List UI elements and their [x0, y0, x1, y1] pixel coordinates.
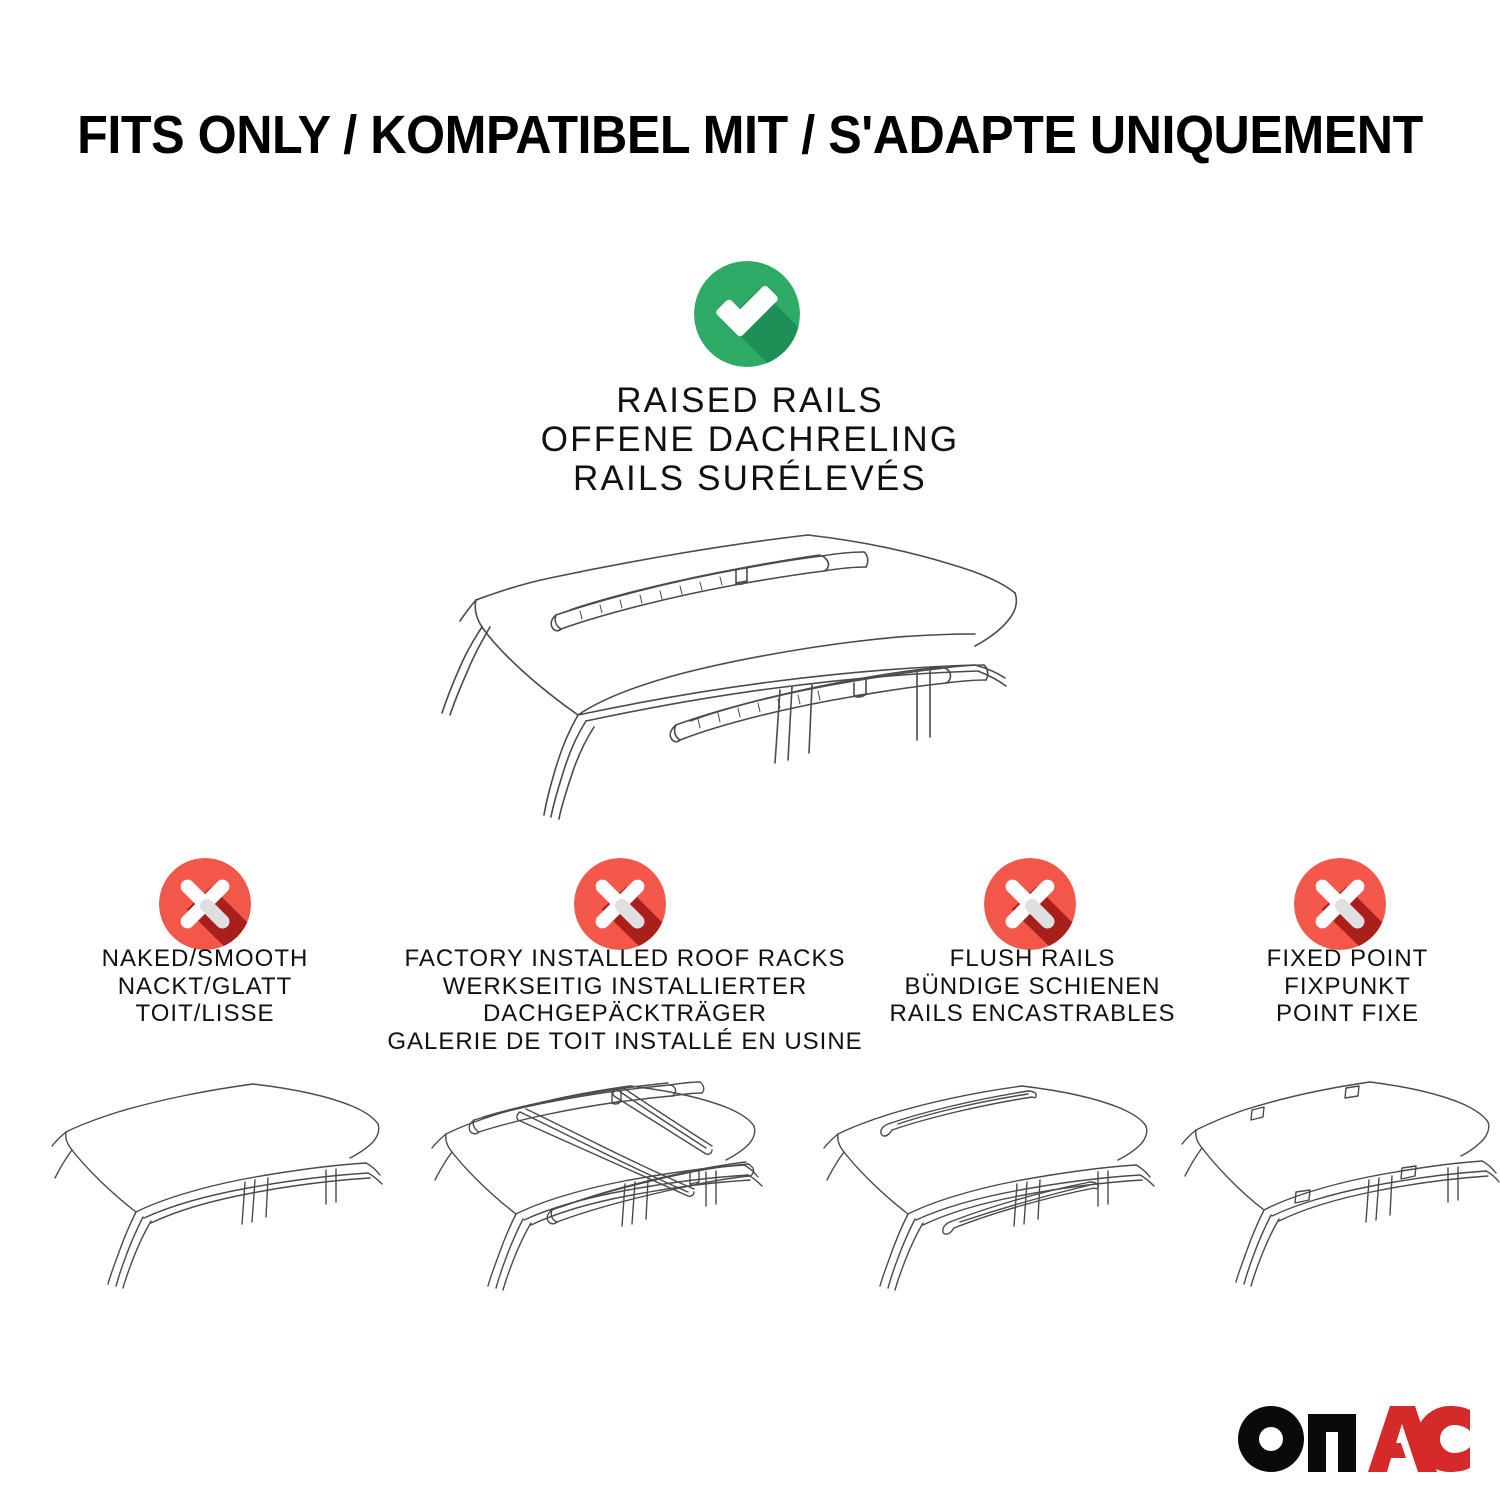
x-circle-icon	[1294, 858, 1386, 950]
compatible-line-3: RAILS SURÉLEVÉS	[0, 459, 1500, 498]
car-roof-fixed-point-illustration	[1180, 1062, 1500, 1292]
caption-line: NACKT/GLATT	[45, 973, 365, 1001]
car-roof-naked-smooth-illustration	[48, 1062, 398, 1292]
caption-line: BÜNDIGE SCHIENEN	[875, 973, 1190, 1001]
car-roof-raised-rails-illustration	[430, 515, 1080, 825]
check-circle-icon	[694, 261, 800, 367]
caption-line: TOIT/LISSE	[45, 1000, 365, 1028]
incompatible-caption-flush-rails: FLUSH RAILS BÜNDIGE SCHIENEN RAILS ENCAS…	[875, 945, 1190, 1028]
caption-line: FACTORY INSTALLED ROOF RACKS	[375, 945, 875, 973]
caption-line: POINT FIXE	[1205, 1000, 1490, 1028]
x-circle-icon	[159, 858, 251, 950]
page-title: FITS ONLY / KOMPATIBEL MIT / S'ADAPTE UN…	[53, 104, 1448, 166]
caption-line: DACHGEPÄCKTRÄGER	[375, 1000, 875, 1028]
compatible-caption: RAISED RAILS OFFENE DACHRELING RAILS SUR…	[0, 381, 1500, 498]
caption-line: WERKSEITIG INSTALLIERTER	[375, 973, 875, 1001]
car-roof-flush-rails-illustration	[810, 1062, 1170, 1292]
car-roof-factory-roof-racks-illustration	[420, 1062, 780, 1292]
caption-line: RAILS ENCASTRABLES	[875, 1000, 1190, 1028]
incompatible-caption-naked-smooth: NAKED/SMOOTH NACKT/GLATT TOIT/LISSE	[45, 945, 365, 1028]
caption-line: GALERIE DE TOIT INSTALLÉ EN USINE	[375, 1028, 875, 1056]
caption-line: NAKED/SMOOTH	[45, 945, 365, 973]
x-circle-icon	[574, 858, 666, 950]
fitment-guide-page: FITS ONLY / KOMPATIBEL MIT / S'ADAPTE UN…	[0, 0, 1500, 1500]
omac-logo	[1238, 1406, 1470, 1474]
incompatible-caption-fixed-point: FIXED POINT FIXPUNKT POINT FIXE	[1205, 945, 1490, 1028]
caption-line: FIXPUNKT	[1205, 973, 1490, 1001]
compatible-line-2: OFFENE DACHRELING	[0, 420, 1500, 459]
caption-line: FLUSH RAILS	[875, 945, 1190, 973]
incompatible-caption-factory-roof-racks: FACTORY INSTALLED ROOF RACKS WERKSEITIG …	[375, 945, 875, 1055]
x-circle-icon	[984, 858, 1076, 950]
caption-line: FIXED POINT	[1205, 945, 1490, 973]
compatible-line-1: RAISED RAILS	[0, 381, 1500, 420]
